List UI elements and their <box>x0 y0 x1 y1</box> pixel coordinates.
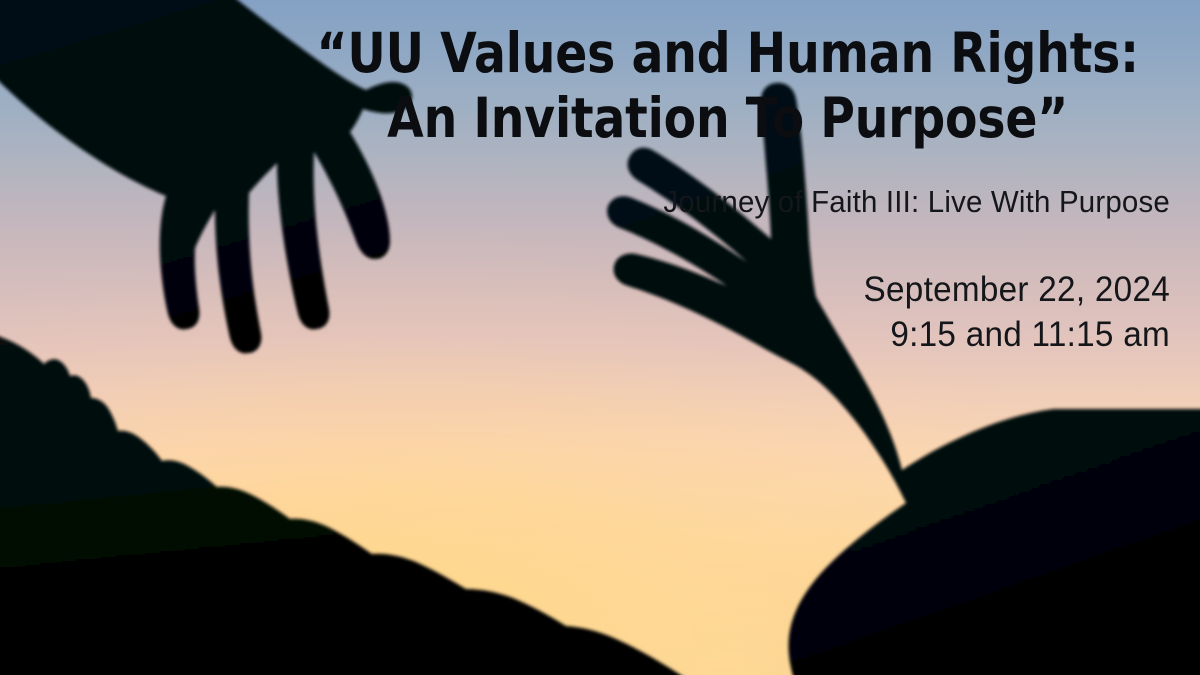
rock-outcrop <box>0 330 707 675</box>
event-slide: “UU Values and Human Rights: An Invitati… <box>0 0 1200 675</box>
silhouette-layer <box>0 0 1200 675</box>
reaching-down-hand <box>0 0 412 353</box>
reaching-up-hand <box>607 83 1200 675</box>
